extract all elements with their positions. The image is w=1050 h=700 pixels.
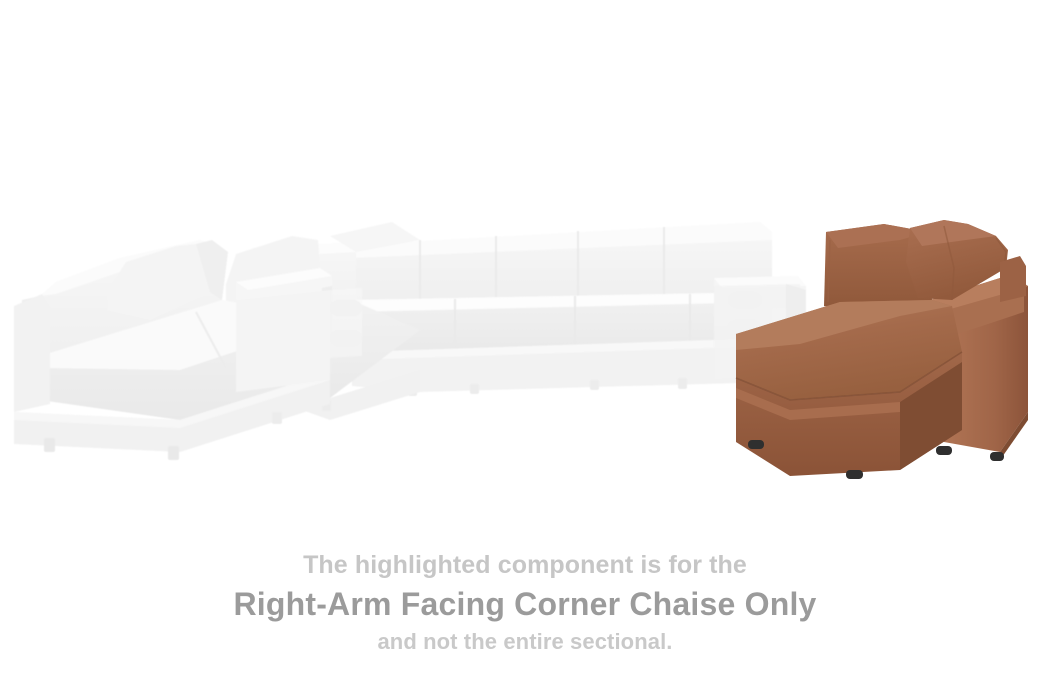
chaise-leg — [936, 446, 952, 455]
dimmed-leg — [590, 380, 599, 390]
dimmed-leg — [678, 378, 687, 389]
caption-component-name: Right-Arm Facing Corner Chaise Only — [0, 582, 1050, 626]
product-illustration — [0, 0, 1050, 520]
chaise-leg — [748, 440, 764, 449]
dimmed-leg — [470, 384, 479, 394]
highlighted-right-arm-facing-corner-chaise — [736, 220, 1028, 479]
chaise-leg — [846, 470, 863, 479]
caption-lead-line: The highlighted component is for the — [0, 548, 1050, 582]
sectional-sofa-svg — [0, 0, 1050, 520]
chaise-leg — [990, 452, 1004, 461]
dimmed-sectional-group — [14, 222, 806, 460]
caption-tail-line: and not the entire sectional. — [0, 626, 1050, 658]
product-highlight-screenshot: The highlighted component is for the Rig… — [0, 0, 1050, 700]
highlight-caption: The highlighted component is for the Rig… — [0, 548, 1050, 658]
dimmed-back-run — [352, 222, 772, 396]
